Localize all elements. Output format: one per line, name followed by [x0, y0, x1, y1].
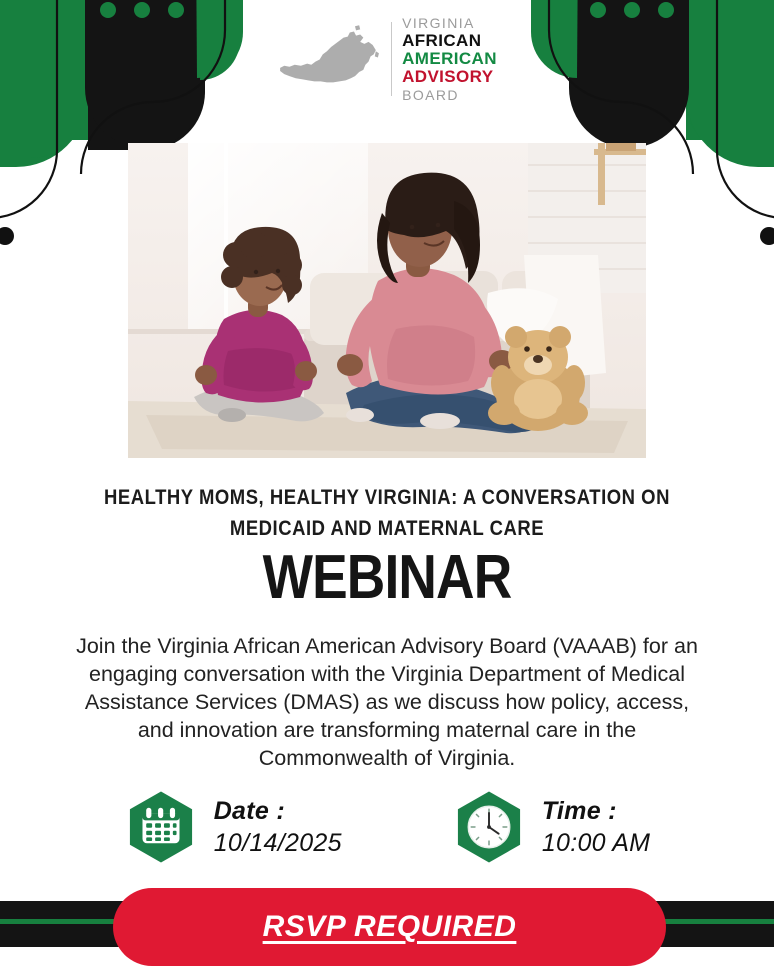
hero-photo [128, 143, 646, 458]
time-label: Time : [542, 796, 650, 827]
body-copy: Join the Virginia African American Advis… [72, 632, 702, 772]
logo-line-advisory: ADVISORY [402, 68, 497, 86]
time-block: Time : 10:00 AM [452, 782, 650, 872]
webinar-flyer: VIRGINIA AFRICAN AMERICAN ADVISORY BOARD [0, 0, 774, 978]
calendar-icon [124, 790, 198, 864]
date-label: Date : [214, 796, 342, 827]
vaaab-logo: VIRGINIA AFRICAN AMERICAN ADVISORY BOARD [0, 14, 774, 104]
clock-icon [452, 790, 526, 864]
photo-illustration [128, 143, 646, 458]
details-row: Date : 10/14/2025 [0, 782, 774, 872]
date-value: 10/14/2025 [214, 827, 342, 859]
time-value: 10:00 AM [542, 827, 650, 859]
logo-line-virginia: VIRGINIA [402, 14, 497, 32]
date-block: Date : 10/14/2025 [124, 782, 342, 872]
dot-right [760, 227, 774, 245]
headline: HEALTHY MOMS, HEALTHY VIRGINIA: A CONVER… [99, 482, 675, 544]
dot-left [0, 227, 14, 245]
rsvp-required-button[interactable]: RSVP REQUIRED [113, 888, 666, 966]
logo-line-african: AFRICAN [402, 32, 497, 50]
webinar-title: WEBINAR [54, 546, 720, 610]
rsvp-button-label: RSVP REQUIRED [263, 910, 517, 944]
virginia-state-map-icon [277, 17, 381, 101]
logo-divider [391, 22, 392, 96]
logo-line-american: AMERICAN [402, 50, 497, 68]
logo-line-board: BOARD [402, 86, 497, 104]
